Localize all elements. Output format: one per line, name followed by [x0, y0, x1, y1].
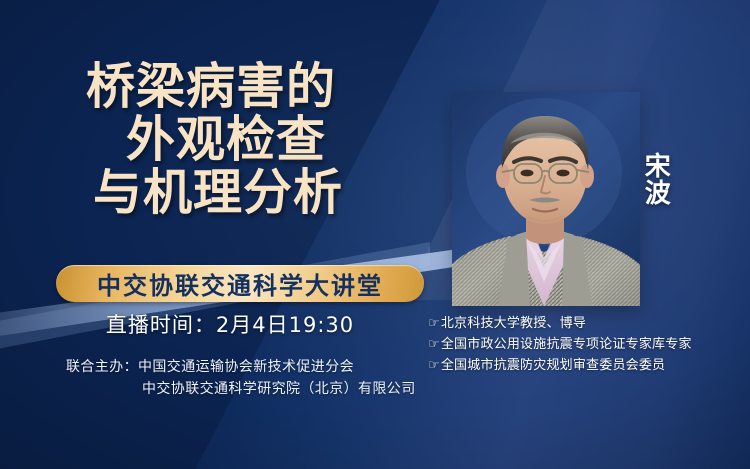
poster-title: 桥梁病害的 外观检查 与机理分析 [0, 62, 430, 218]
speaker-name: 宋波 [638, 152, 671, 206]
live-time: 直播时间：2月4日19:30 [0, 309, 460, 339]
credential-text: 全国市政公用设施抗震专项论证专家库专家 [441, 334, 692, 355]
series-badge-label: 中交协联交通科学大讲堂 [97, 266, 383, 301]
credential-item: ☞ 全国城市抗震防灾规划审查委员会委员 [428, 355, 744, 376]
credential-item: ☞ 北京科技大学教授、博导 [428, 313, 744, 334]
speaker-credentials: ☞ 北京科技大学教授、博导 ☞ 全国市政公用设施抗震专项论证专家库专家 ☞ 全国… [428, 313, 744, 376]
pointing-hand-icon: ☞ [428, 355, 440, 376]
credential-item: ☞ 全国市政公用设施抗震专项论证专家库专家 [428, 334, 744, 355]
speaker-portrait [452, 92, 640, 306]
title-line-2: 外观检查 [22, 115, 430, 165]
organizer-line-1: 联合主办：中国交通运输协会新技术促进分会 [66, 356, 446, 378]
pointing-hand-icon: ☞ [428, 313, 440, 334]
title-line-1: 桥梁病害的 [0, 62, 430, 112]
webinar-poster: 桥梁病害的 外观检查 与机理分析 中交协联交通科学大讲堂 直播时间：2月4日19… [0, 0, 750, 469]
credential-text: 北京科技大学教授、博导 [441, 313, 586, 334]
organizer-line-2: 中交协联交通科学研究院（北京）有限公司 [66, 378, 446, 400]
organizers: 联合主办：中国交通运输协会新技术促进分会 中交协联交通科学研究院（北京）有限公司 [66, 356, 446, 400]
credential-text: 全国城市抗震防灾规划审查委员会委员 [441, 355, 665, 376]
series-badge: 中交协联交通科学大讲堂 [56, 265, 424, 302]
pointing-hand-icon: ☞ [428, 334, 440, 355]
title-line-3: 与机理分析 [6, 168, 430, 218]
